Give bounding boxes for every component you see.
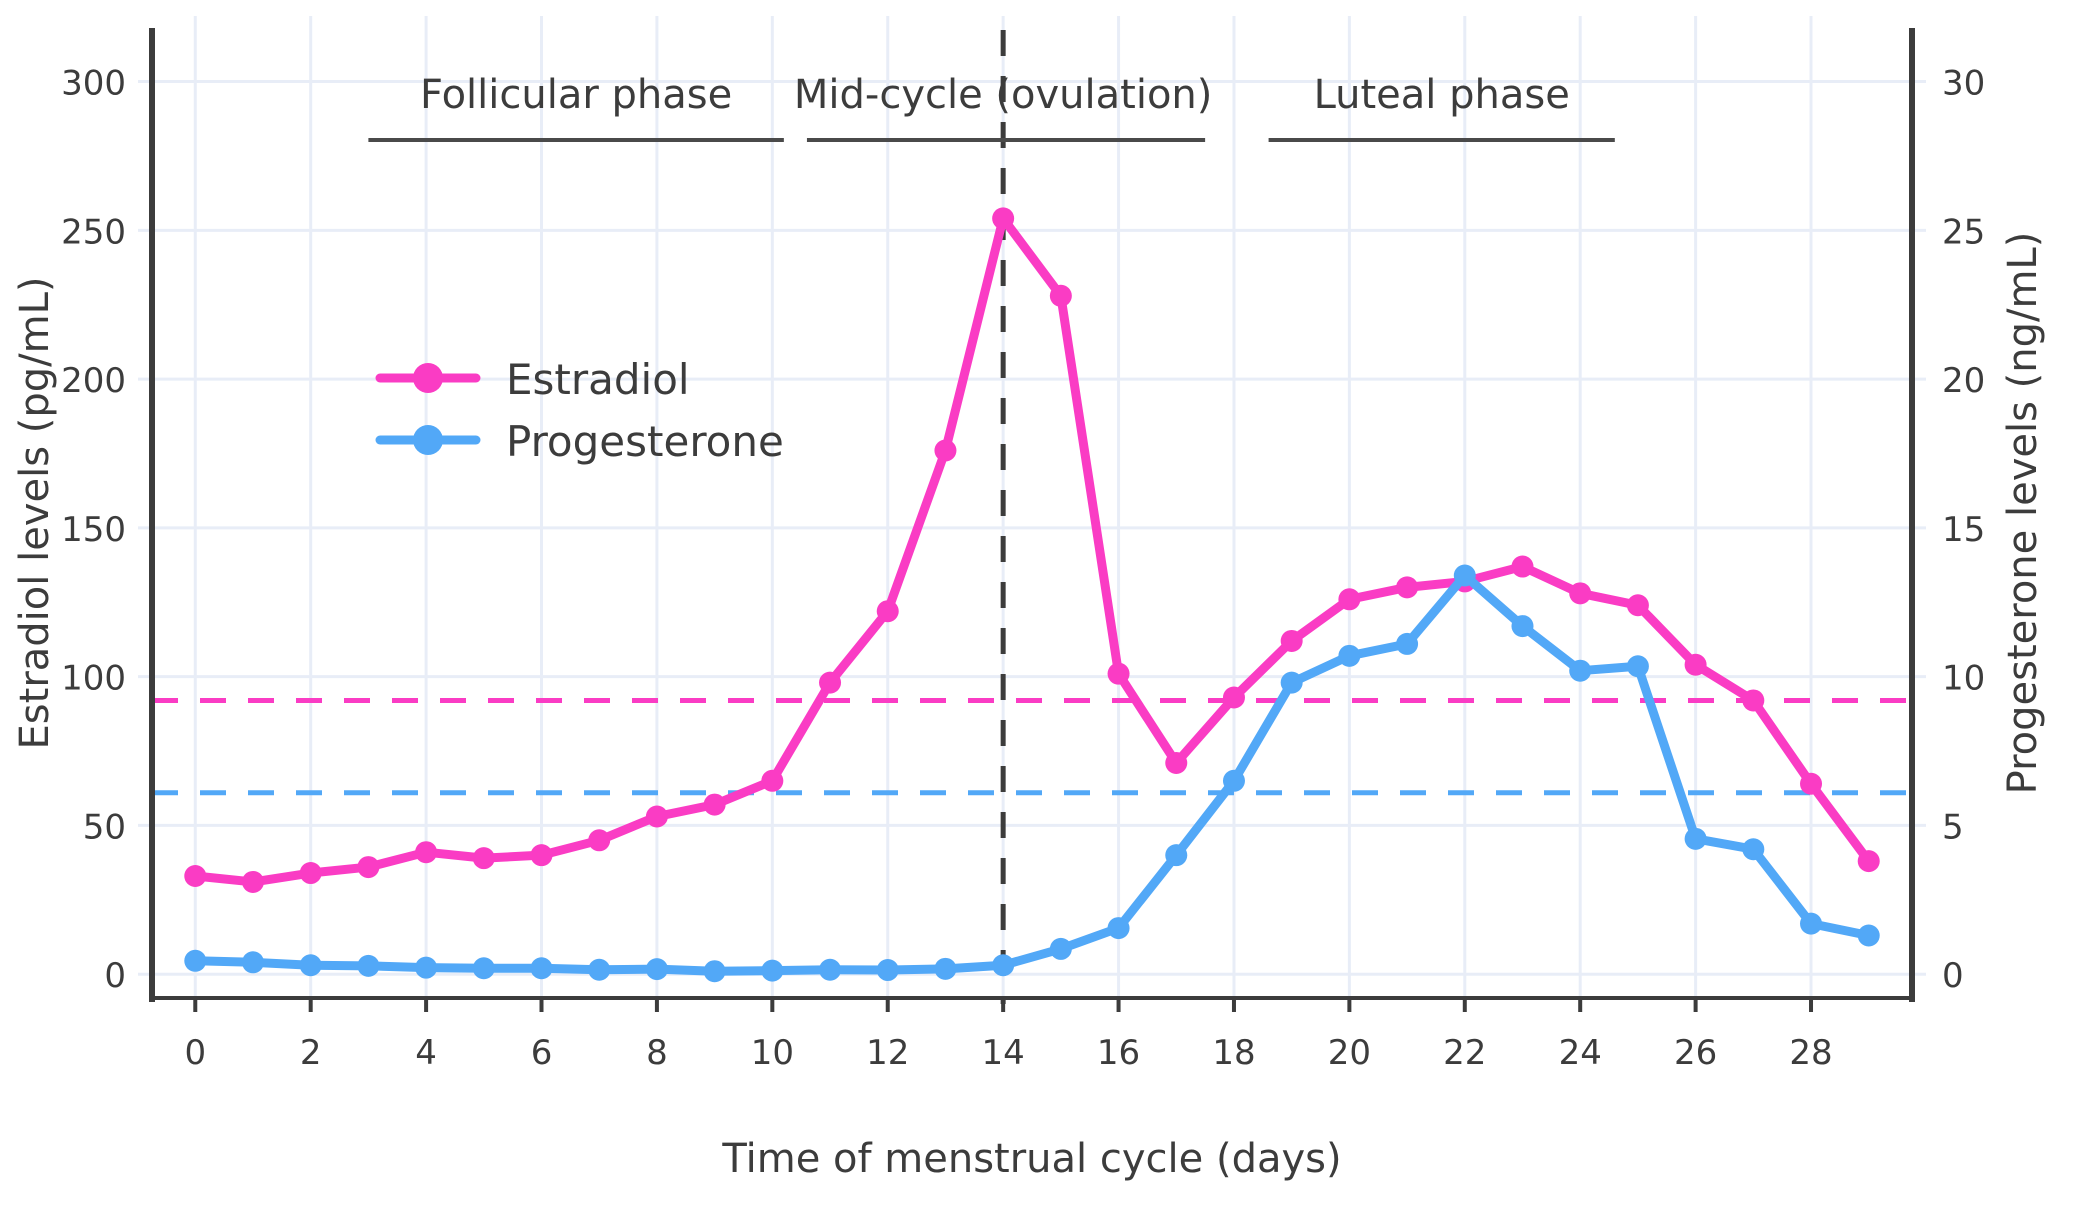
- data-point: [1858, 925, 1880, 947]
- data-point: [1800, 913, 1822, 935]
- data-point: [1165, 752, 1187, 774]
- x-tick-label: 4: [415, 1033, 437, 1073]
- data-point: [704, 960, 726, 982]
- x-tick-label: 22: [1443, 1033, 1486, 1073]
- y-tick-label-right: 30: [1942, 64, 1985, 104]
- y-tick-label-left: 50: [83, 807, 126, 847]
- x-tick-label: 8: [646, 1033, 668, 1073]
- data-point: [1050, 285, 1072, 307]
- phase-label-luteal-phase: Luteal phase: [1314, 72, 1570, 118]
- data-point: [242, 871, 264, 893]
- y-tick-label-left: 300: [61, 64, 126, 104]
- y-tick-label-right: 10: [1942, 659, 1985, 699]
- data-point: [531, 957, 553, 979]
- y-tick-label-right: 25: [1942, 212, 1985, 252]
- data-point: [1627, 594, 1649, 616]
- data-point: [1569, 582, 1591, 604]
- legend-label-estradiol: Estradiol: [506, 355, 690, 404]
- data-point: [1165, 844, 1187, 866]
- y-tick-label-left: 0: [104, 956, 126, 996]
- x-tick-label: 6: [531, 1033, 553, 1073]
- data-point: [819, 672, 841, 694]
- y-axis-title-right: Progesterone levels (ng/mL): [2000, 232, 2046, 795]
- data-point: [1569, 660, 1591, 682]
- y-axis-title-left: Estradiol levels (pg/mL): [12, 277, 58, 750]
- x-tick-label: 16: [1097, 1033, 1140, 1073]
- data-point: [1396, 576, 1418, 598]
- data-point: [1685, 654, 1707, 676]
- data-point: [415, 841, 437, 863]
- data-point: [992, 207, 1014, 229]
- data-point: [184, 950, 206, 972]
- data-point: [877, 600, 899, 622]
- y-tick-label-left: 100: [61, 659, 126, 699]
- data-point: [1108, 663, 1130, 685]
- data-point: [646, 805, 668, 827]
- data-point: [473, 957, 495, 979]
- data-point: [992, 954, 1014, 976]
- data-point: [1685, 828, 1707, 850]
- data-point: [819, 959, 841, 981]
- data-point: [1454, 564, 1476, 586]
- x-tick-label: 0: [184, 1033, 206, 1073]
- x-tick-label: 12: [866, 1033, 909, 1073]
- data-point: [1511, 556, 1533, 578]
- data-point: [300, 954, 322, 976]
- x-tick-label: 10: [751, 1033, 794, 1073]
- data-point: [300, 862, 322, 884]
- data-point: [588, 959, 610, 981]
- data-point: [473, 847, 495, 869]
- data-point: [184, 865, 206, 887]
- data-point: [357, 856, 379, 878]
- x-tick-label: 28: [1789, 1033, 1832, 1073]
- hormone-cycle-line-chart: 0501001502002503000510152025300246810121…: [0, 0, 2077, 1208]
- phase-label-follicular-phase: Follicular phase: [420, 72, 732, 118]
- data-point: [1050, 938, 1072, 960]
- data-point: [1858, 850, 1880, 872]
- data-point: [934, 958, 956, 980]
- y-tick-label-right: 20: [1942, 361, 1985, 401]
- chart-canvas: 0501001502002503000510152025300246810121…: [0, 0, 2077, 1208]
- y-tick-label-left: 200: [61, 361, 126, 401]
- data-point: [531, 844, 553, 866]
- data-point: [1338, 645, 1360, 667]
- data-point: [415, 957, 437, 979]
- data-point: [877, 959, 899, 981]
- x-tick-label: 18: [1212, 1033, 1255, 1073]
- data-point: [1742, 689, 1764, 711]
- legend-label-progesterone: Progesterone: [506, 417, 784, 466]
- x-tick-label: 14: [982, 1033, 1025, 1073]
- y-tick-label-left: 250: [61, 212, 126, 252]
- y-tick-label-left: 150: [61, 510, 126, 550]
- y-tick-label-right: 0: [1942, 956, 1964, 996]
- data-point: [934, 440, 956, 462]
- x-tick-label: 26: [1674, 1033, 1717, 1073]
- legend-swatch-marker: [413, 363, 443, 393]
- data-point: [761, 770, 783, 792]
- x-tick-label: 2: [300, 1033, 322, 1073]
- data-point: [1627, 655, 1649, 677]
- x-axis-title: Time of menstrual cycle (days): [721, 1136, 1341, 1182]
- data-point: [1281, 630, 1303, 652]
- y-tick-label-right: 5: [1942, 807, 1964, 847]
- data-point: [761, 960, 783, 982]
- phase-label-mid-cycle-phase: Mid-cycle (ovulation): [794, 72, 1213, 118]
- data-point: [1396, 633, 1418, 655]
- data-point: [1511, 615, 1533, 637]
- data-point: [646, 958, 668, 980]
- data-point: [1281, 672, 1303, 694]
- data-point: [1338, 588, 1360, 610]
- data-point: [1108, 917, 1130, 939]
- data-point: [242, 951, 264, 973]
- data-point: [357, 955, 379, 977]
- y-tick-label-right: 15: [1942, 510, 1985, 550]
- x-tick-label: 20: [1328, 1033, 1371, 1073]
- data-point: [588, 829, 610, 851]
- legend-swatch-marker: [413, 425, 443, 455]
- data-point: [1742, 838, 1764, 860]
- x-tick-label: 24: [1559, 1033, 1602, 1073]
- data-point: [1223, 770, 1245, 792]
- data-point: [1800, 773, 1822, 795]
- data-point: [704, 794, 726, 816]
- data-point: [1223, 686, 1245, 708]
